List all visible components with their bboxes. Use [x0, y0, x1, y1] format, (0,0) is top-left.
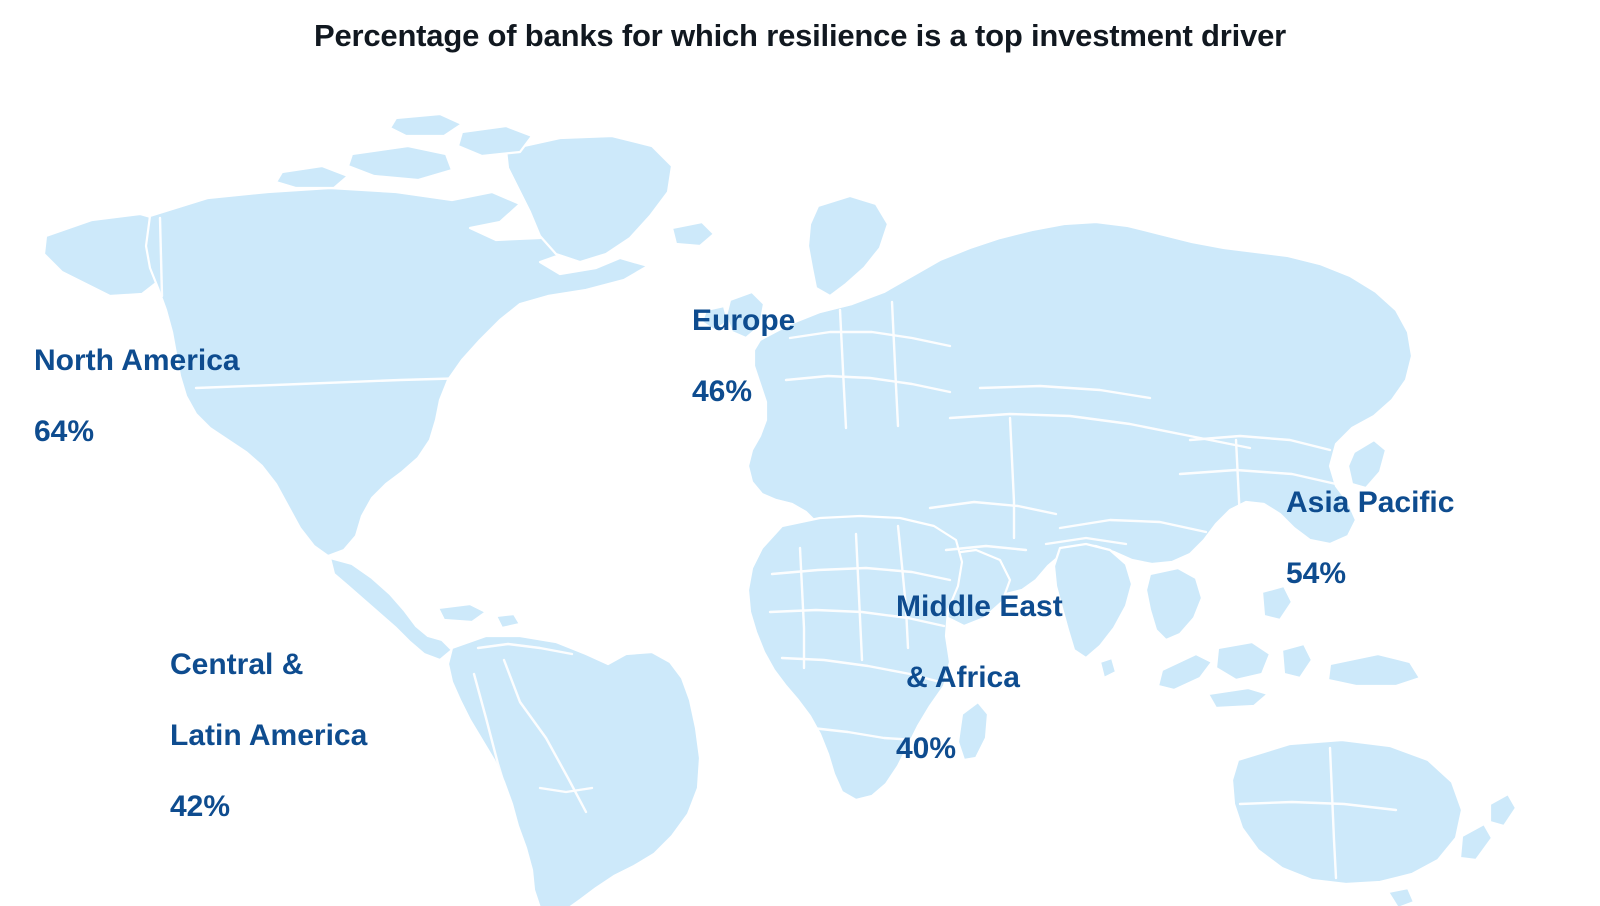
landmass-new-zealand-south	[1460, 824, 1492, 860]
region-label-europe: Europe 46%	[692, 268, 795, 446]
landmass-caribbean-1	[438, 604, 486, 622]
landmass-new-zealand-north	[1490, 794, 1516, 826]
landmass-australia	[1232, 740, 1462, 884]
landmass-indonesia-borneo	[1216, 642, 1270, 680]
region-value-middle-east-africa: 40%	[896, 732, 1063, 766]
region-name-north-america: North America	[34, 344, 240, 378]
region-label-central-latin-america: Central & Latin America 42%	[170, 612, 367, 860]
region-label-north-america: North America 64%	[34, 308, 240, 486]
landmass-scandinavia	[808, 196, 888, 296]
landmass-indonesia-sumatra	[1158, 654, 1212, 690]
page-title: Percentage of banks for which resilience…	[0, 18, 1600, 54]
region-name-asia-pacific: Asia Pacific	[1286, 486, 1454, 520]
region-value-asia-pacific: 54%	[1286, 557, 1454, 591]
landmass-new-guinea	[1328, 654, 1420, 686]
landmass-indochina	[1146, 568, 1202, 640]
landmass-arctic-islands-2	[458, 126, 532, 156]
region-name-africa: & Africa	[896, 661, 1063, 695]
landmass-tasmania	[1388, 888, 1414, 906]
landmass-arctic-islands-4	[390, 114, 462, 136]
landmass-arctic-islands-3	[276, 166, 348, 188]
region-name-europe: Europe	[692, 304, 795, 338]
region-name-central: Central &	[170, 648, 367, 682]
landmass-india	[1054, 544, 1132, 658]
region-value-north-america: 64%	[34, 415, 240, 449]
region-value-europe: 46%	[692, 375, 795, 409]
landmass-indonesia-java	[1208, 688, 1268, 708]
landmass-iceland	[672, 222, 714, 246]
region-label-middle-east-africa: Middle East & Africa 40%	[896, 554, 1063, 802]
landmass-sri-lanka	[1100, 658, 1116, 678]
slide-canvas: Percentage of banks for which resilience…	[0, 0, 1600, 906]
region-value-central-latin-america: 42%	[170, 790, 367, 824]
region-name-latin-america: Latin America	[170, 719, 367, 753]
landmass-arctic-islands-1	[348, 146, 452, 180]
region-name-middle-east: Middle East	[896, 590, 1063, 624]
landmass-caribbean-2	[496, 614, 520, 628]
landmass-indonesia-sulawesi	[1282, 644, 1312, 678]
region-label-asia-pacific: Asia Pacific 54%	[1286, 450, 1454, 628]
landmass-south-america	[448, 636, 700, 906]
